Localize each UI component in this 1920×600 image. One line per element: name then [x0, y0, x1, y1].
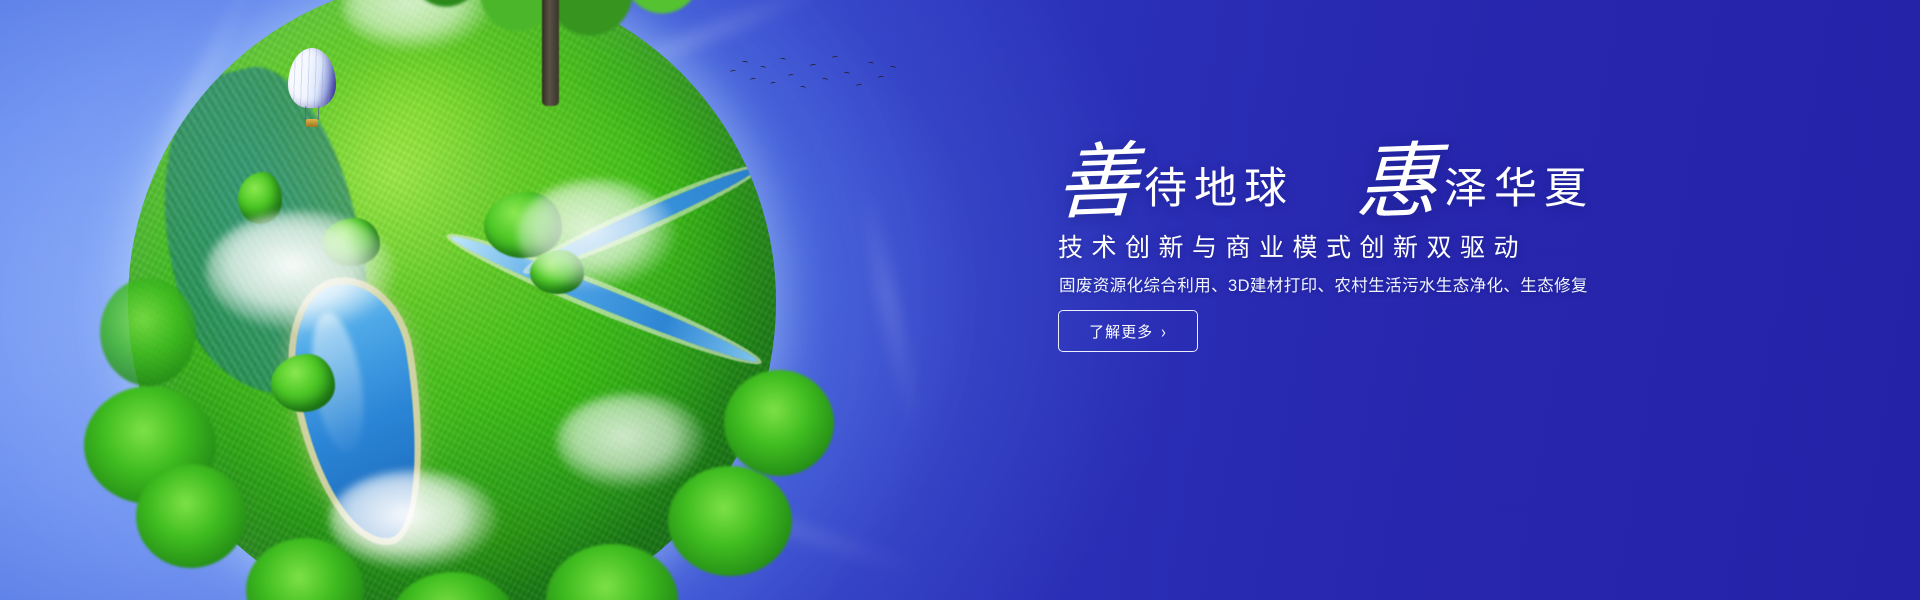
balloon-seams [288, 48, 336, 108]
cirrus-cloud [175, 291, 265, 586]
page-title: 善 待地球 惠 泽华夏 [1056, 148, 1594, 219]
river [447, 228, 760, 370]
hero-banner: 善 待地球 惠 泽华夏 技术创新与商业模式创新双驱动 固废资源化综合利用、3D建… [0, 0, 1920, 600]
bird-icon [742, 61, 748, 65]
page-description: 固废资源化综合利用、3D建材打印、农村生活污水生态净化、生态修复 [1059, 272, 1588, 296]
bird-icon [868, 62, 874, 66]
rim-tree [84, 386, 216, 504]
learn-more-label: 了解更多 [1089, 321, 1153, 342]
bird-icon [878, 76, 884, 80]
cloud [517, 179, 677, 289]
lake-highlight [303, 309, 372, 457]
balloon-basket [306, 119, 318, 127]
bird-icon [822, 77, 828, 81]
headline-accent-char-1: 善 [1055, 147, 1140, 220]
highland-ridge [132, 52, 391, 416]
hero-tree [404, 0, 704, 100]
headline-part-2: 惠 泽华夏 [1356, 148, 1594, 219]
shrub [530, 250, 584, 294]
learn-more-button[interactable]: 了解更多 › [1058, 310, 1198, 352]
cloud [556, 393, 706, 489]
rim-tree [668, 466, 792, 576]
bird-icon [788, 73, 795, 77]
cloud [342, 0, 492, 51]
bird-icon [800, 86, 806, 90]
hot-air-balloon [288, 48, 340, 134]
shrub [238, 172, 282, 224]
rim-tree [546, 544, 678, 600]
terrain-texture [128, 0, 776, 600]
cirrus-cloud [645, 474, 935, 582]
river-branch [524, 161, 759, 278]
rim-tree [246, 538, 364, 600]
lake [283, 275, 434, 547]
globe-halo [76, 0, 828, 600]
chevron-right-icon: › [1161, 322, 1167, 340]
cloud [206, 211, 396, 331]
cirrus-cloud [115, 131, 182, 391]
tree-trunk [542, 0, 559, 106]
bird-icon [780, 58, 786, 62]
cloud [329, 470, 499, 570]
rim-tree [390, 572, 516, 600]
rim-tree [136, 464, 246, 568]
headline-accent-char-2: 惠 [1355, 147, 1440, 220]
page-subtitle: 技术创新与商业模式创新双驱动 [1058, 228, 1527, 264]
shrub [271, 354, 335, 412]
rim-tree [724, 370, 834, 476]
bird-icon [832, 56, 838, 60]
shrub [322, 218, 380, 266]
headline-rest-1: 待地球 [1144, 168, 1294, 219]
cirrus-cloud [117, 0, 263, 242]
balloon-envelope [288, 48, 336, 108]
bird-icon [856, 83, 862, 87]
globe-sphere [128, 0, 776, 600]
headline-part-1: 善 待地球 [1056, 148, 1294, 219]
grass-texture [128, 0, 776, 600]
banner-content: 善 待地球 惠 泽华夏 技术创新与商业模式创新双驱动 固废资源化综合利用、3D建… [1056, 0, 1756, 600]
bird-flock [726, 52, 906, 100]
bird-icon [810, 64, 816, 68]
earth-globe-illustration [128, 0, 776, 600]
headline-rest-2: 泽华夏 [1444, 168, 1594, 219]
balloon-ropes [305, 106, 320, 120]
bird-icon [844, 72, 850, 76]
bird-icon [890, 65, 896, 69]
rim-tree [100, 278, 196, 386]
tree-canopy [404, 0, 704, 40]
cirrus-cloud [853, 181, 927, 439]
shrub [484, 192, 562, 258]
bird-icon [760, 65, 767, 69]
bird-icon [770, 82, 776, 86]
bird-icon [730, 69, 736, 73]
bird-icon [750, 78, 756, 82]
